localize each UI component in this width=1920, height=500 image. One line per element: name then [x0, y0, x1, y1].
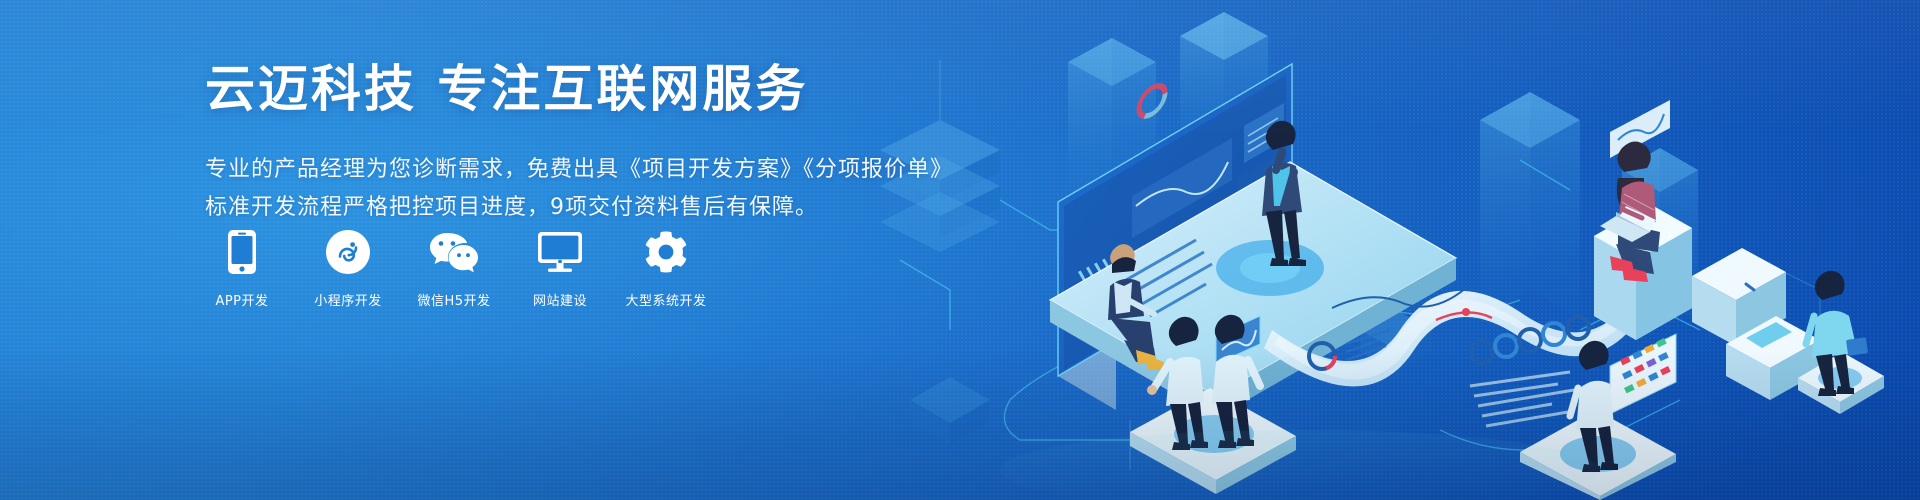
service-label-wechat-h5: 微信H5开发	[417, 290, 490, 309]
hero-subtitle-line-1: 专业的产品经理为您诊断需求，免费出具《项目开发方案》《分项报价单》	[205, 151, 925, 189]
wechat-icon	[428, 228, 480, 276]
service-item-app[interactable]: APP开发	[206, 228, 278, 309]
hero-banner: 云迈科技 专注互联网服务 专业的产品经理为您诊断需求，免费出具《项目开发方案》《…	[0, 0, 1920, 500]
service-label-mini-program: 小程序开发	[314, 290, 382, 309]
service-item-large-system[interactable]: 大型系统开发	[630, 228, 702, 309]
gear-icon	[644, 228, 688, 276]
mobile-phone-icon	[227, 228, 257, 276]
service-label-app: APP开发	[215, 290, 268, 309]
hero-copy: 云迈科技 专注互联网服务 专业的产品经理为您诊断需求，免费出具《项目开发方案》《…	[205, 62, 925, 227]
service-item-website[interactable]: 网站建设	[524, 228, 596, 309]
service-label-large-system: 大型系统开发	[626, 290, 707, 309]
service-icon-row: APP开发 小程序开发	[206, 228, 702, 309]
service-label-website: 网站建设	[533, 290, 587, 309]
monitor-icon	[537, 228, 583, 276]
hero-subtitle-line-2: 标准开发流程严格把控项目进度，9项交付资料售后有保障。	[205, 189, 925, 227]
service-item-wechat-h5[interactable]: 微信H5开发	[418, 228, 490, 309]
illustration-isometric-digital-teamwork	[880, 0, 1920, 500]
mini-program-icon	[326, 228, 370, 276]
service-item-mini-program[interactable]: 小程序开发	[312, 228, 384, 309]
page-title: 云迈科技 专注互联网服务	[205, 62, 925, 117]
